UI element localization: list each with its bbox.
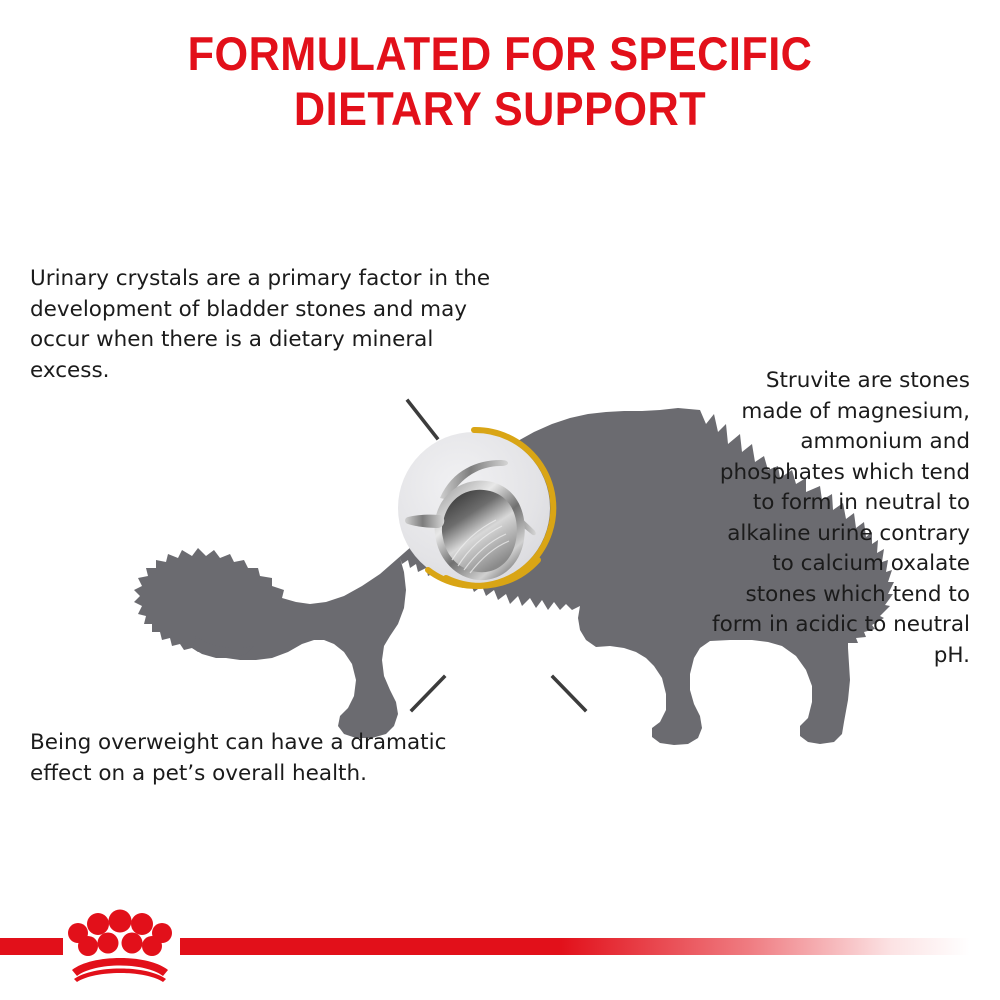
callout-struvite-stones: Struvite are stones made of magnesium, a… — [710, 366, 970, 671]
brand-footer — [0, 900, 1000, 1000]
brand-bar-left — [0, 938, 63, 955]
callout-urinary-crystals: Urinary crystals are a primary factor in… — [30, 264, 500, 386]
infographic-page: FORMULATED FOR SPECIFIC DIETARY SUPPORT — [0, 0, 1000, 1000]
bladder-magnifier — [398, 430, 553, 586]
brand-bar-right — [180, 938, 970, 955]
royal-canin-crown-icon — [68, 910, 172, 983]
callout-overweight: Being overweight can have a dramatic eff… — [30, 728, 510, 789]
